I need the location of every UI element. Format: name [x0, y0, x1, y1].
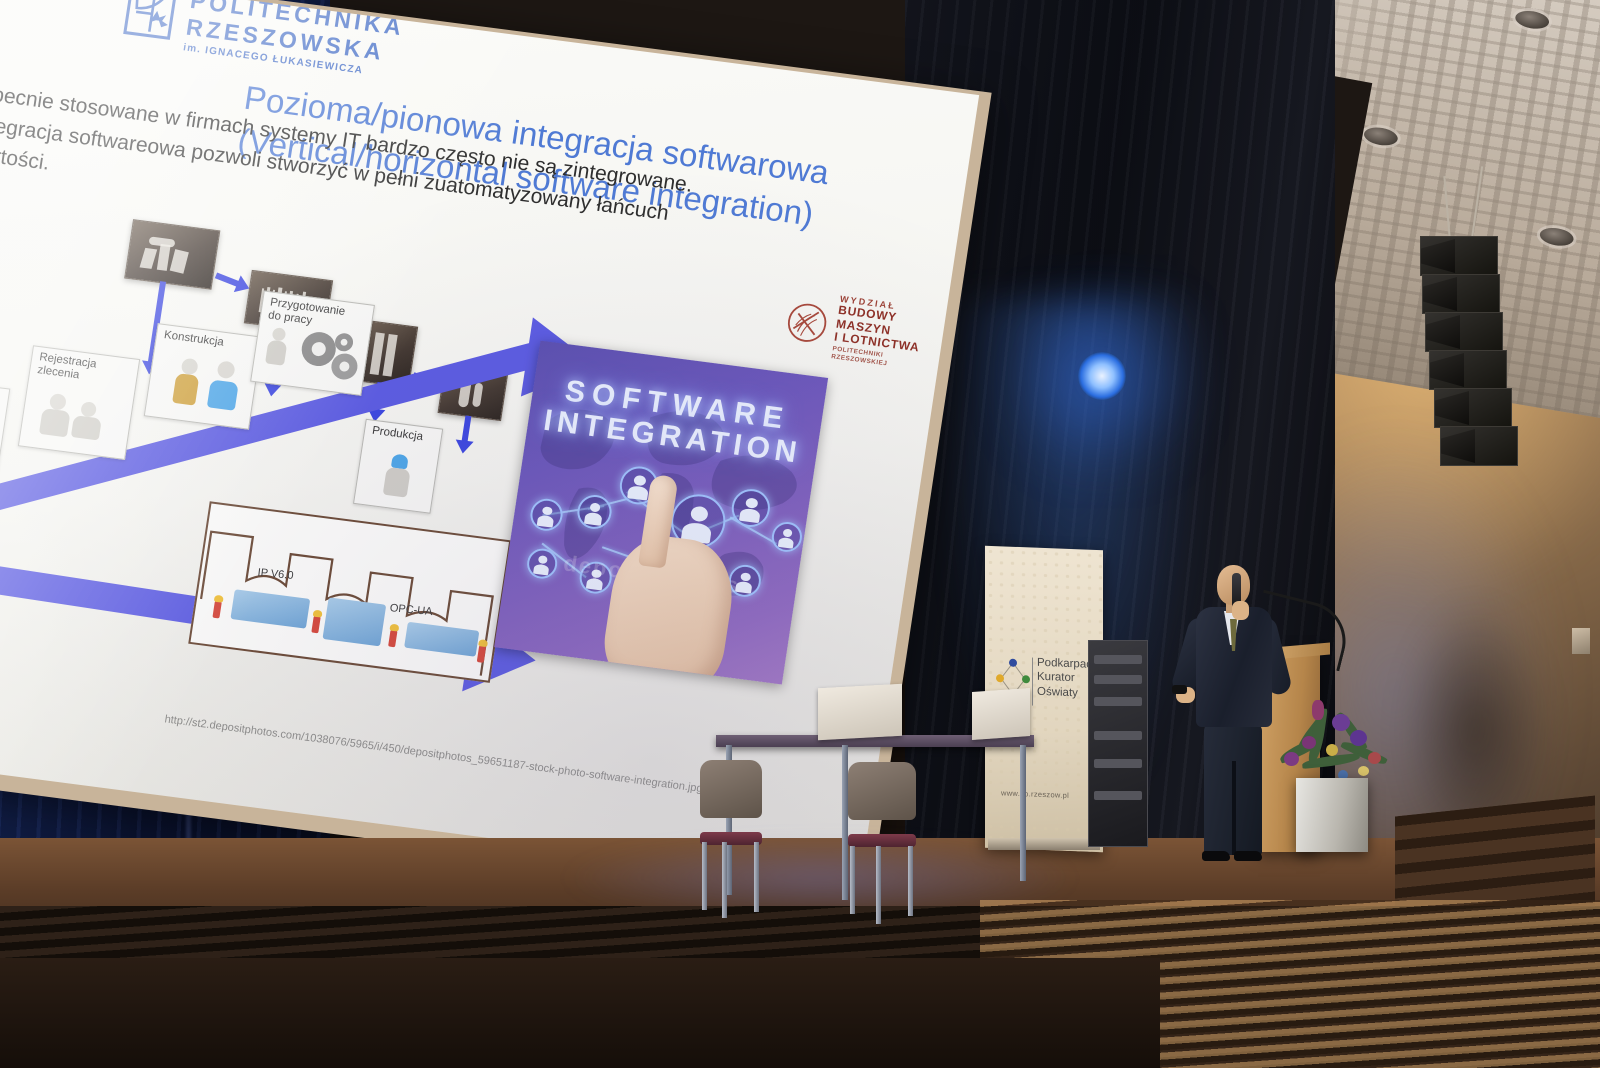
wydzial-budowy-maszyn-crest-icon: [783, 298, 831, 349]
faculty-logo-text: WYDZIAŁ BUDOWY MASZYN I LOTNICTWA POLITE…: [831, 294, 947, 374]
flower-bloom: [1358, 766, 1369, 776]
flower-bloom: [1284, 752, 1299, 766]
line-array-module: [1429, 350, 1507, 390]
factory-machine: [322, 597, 386, 646]
chair-leg: [876, 846, 881, 924]
university-logo-text: POLITECHNIKA RZESZOWSKA im. IGNACEGO ŁUK…: [182, 0, 406, 81]
chair-leg: [850, 846, 855, 914]
name-card: [818, 684, 902, 740]
faculty-logo: WYDZIAŁ BUDOWY MASZYN I LOTNICTWA POLITE…: [781, 287, 947, 373]
stage-chair: [700, 760, 762, 910]
line-array-module: [1434, 388, 1512, 428]
process-card: Przygotowanie do pracy: [250, 291, 375, 396]
flower-bloom: [1326, 744, 1338, 756]
politechnika-rzeszowska-crest-icon: [118, 0, 183, 43]
chair-back: [848, 762, 916, 820]
presenter: [1180, 565, 1284, 865]
university-logo: POLITECHNIKA RZESZOWSKA im. IGNACEGO ŁUK…: [117, 0, 407, 81]
speaker-horn: [1421, 239, 1455, 273]
rack-unit: [1094, 731, 1142, 740]
chair-back: [700, 760, 762, 818]
banner-base: [988, 838, 1100, 850]
flower-arrangement: [1272, 690, 1396, 790]
chair-leg: [722, 842, 727, 918]
speaker-horn: [1441, 429, 1475, 463]
process-figure-icon: [68, 400, 108, 444]
process-card: Produkcja: [353, 419, 443, 514]
presenter-shoe: [1234, 851, 1262, 861]
line-array-module: [1422, 274, 1500, 314]
process-card-label: Produkcja: [371, 425, 424, 445]
gears-icon: [288, 324, 370, 391]
rack-unit: [1094, 655, 1142, 664]
flower-bloom: [1350, 730, 1367, 746]
presenter-mic-hand: [1232, 601, 1249, 620]
stage-chair: [848, 762, 916, 914]
speaker-horn: [1426, 315, 1460, 349]
process-figure-icon: [379, 453, 416, 502]
rack-unit: [1094, 675, 1142, 684]
flower-bloom: [1332, 714, 1350, 731]
process-card-label: Konstrukcja: [163, 329, 225, 350]
process-card: Rejestracja zlecenia: [18, 345, 140, 460]
chair-seat: [848, 834, 916, 847]
presenter-shoe: [1202, 851, 1230, 861]
speaker-horn: [1430, 353, 1464, 387]
process-figure-icon: [261, 326, 293, 373]
name-card: [972, 688, 1030, 740]
table-leg: [1020, 745, 1026, 881]
process-card-label: Rejestracja zlecenia: [36, 351, 119, 387]
auditorium-photo: POLITECHNIKA RZESZOWSKA im. IGNACEGO ŁUK…: [0, 0, 1600, 1068]
house-floor: [0, 958, 1160, 1068]
software-integration-image: SOFTWARE INTEGRATION: [494, 341, 828, 685]
line-array-module: [1420, 236, 1498, 276]
process-figure-icon: [167, 356, 206, 408]
flower-bloom: [1302, 736, 1316, 749]
process-figure-icon: [205, 359, 244, 413]
projected-slide: POLITECHNIKA RZESZOWSKA im. IGNACEGO ŁUK…: [0, 0, 979, 886]
wall-mounted-speaker: [1572, 628, 1590, 654]
flower-bloom: [1368, 752, 1381, 764]
speaker-horn: [1423, 277, 1457, 311]
flower-planter: [1296, 778, 1368, 852]
speaker-horn: [1435, 391, 1469, 425]
rack-unit: [1094, 791, 1142, 800]
presentation-remote: [1172, 685, 1187, 694]
chair-seat: [700, 832, 762, 845]
chair-leg: [702, 842, 707, 910]
flower-bloom: [1312, 700, 1324, 720]
av-equipment-rack: [1088, 640, 1148, 847]
process-card: Konstrukcja: [144, 323, 263, 430]
rack-unit: [1094, 697, 1142, 706]
blue-stage-spotlight: [1078, 352, 1126, 400]
line-array-speaker: [1402, 236, 1498, 484]
chair-leg: [908, 846, 913, 916]
banner-divider: [1032, 658, 1033, 706]
presenter-leg-split: [1232, 761, 1236, 855]
rack-unit: [1094, 759, 1142, 768]
line-array-module: [1425, 312, 1503, 352]
chair-leg: [754, 842, 759, 912]
line-array-module: [1440, 426, 1518, 466]
